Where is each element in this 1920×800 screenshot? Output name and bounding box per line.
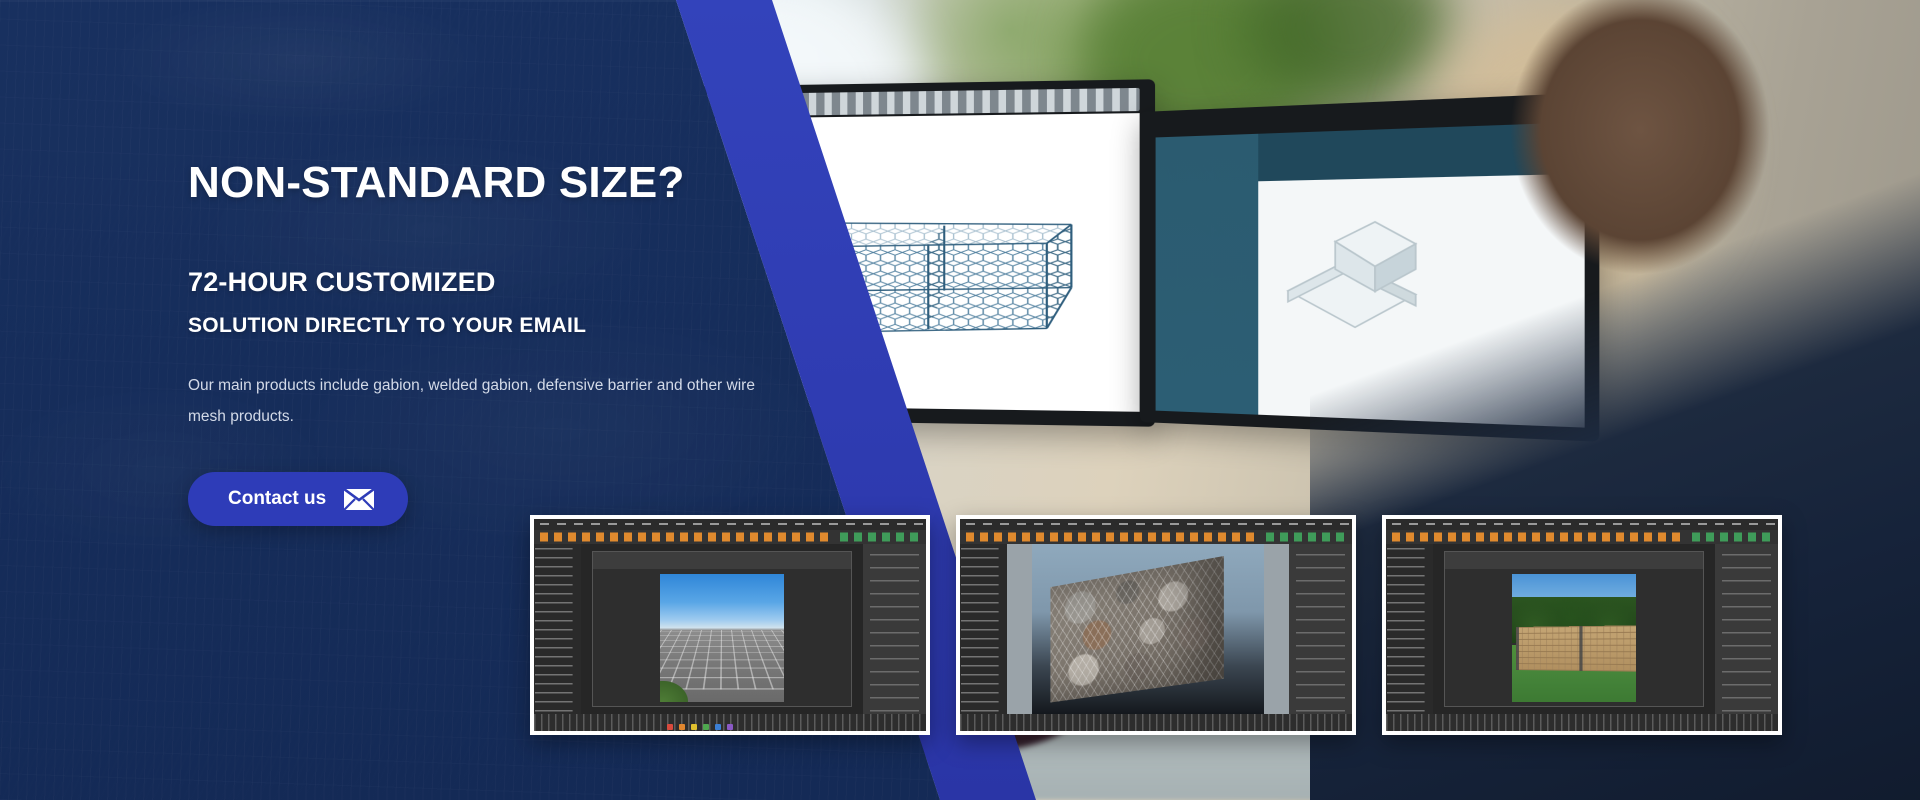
envelope-icon xyxy=(344,489,374,510)
subheading-secondary: SOLUTION DIRECTLY TO YOUR EMAIL xyxy=(188,313,788,338)
app-menu-bar xyxy=(534,519,926,530)
grass-patch xyxy=(660,681,687,701)
toolbar-icons-secondary xyxy=(840,533,918,542)
render-window-titlebar xyxy=(593,552,851,569)
outliner-panel xyxy=(534,544,581,714)
timeline-bar[interactable] xyxy=(1386,714,1778,731)
contact-us-label: Contact us xyxy=(228,488,326,510)
contact-us-button[interactable]: Contact us xyxy=(188,472,408,526)
viewport xyxy=(1007,544,1289,714)
toolbar-icons xyxy=(1392,533,1682,542)
toolbar-icons-secondary xyxy=(1266,533,1344,542)
dot-purple xyxy=(727,724,733,730)
dot-red xyxy=(667,724,673,730)
app-toolbar xyxy=(534,530,926,545)
dot-orange xyxy=(679,724,685,730)
attribute-panel xyxy=(1715,544,1778,714)
gabion-fence-model xyxy=(1516,626,1636,673)
timeline-bar[interactable] xyxy=(960,714,1352,731)
dot-blue xyxy=(715,724,721,730)
toolbar-icons-secondary xyxy=(1692,533,1770,542)
viewport xyxy=(1433,544,1715,714)
thumbnail-modeling-render[interactable]: welded wire mesh field under blue sky xyxy=(530,515,930,735)
attribute-panel xyxy=(1289,544,1352,714)
toolbar-icons xyxy=(540,533,830,542)
thumbnail-gabion-fence-render[interactable]: gabion fence wall with hedge and lawn xyxy=(1382,515,1782,735)
app-toolbar xyxy=(1386,530,1778,545)
viewport-side-bar-left xyxy=(1007,544,1032,714)
outliner-panel xyxy=(1386,544,1433,714)
status-color-dots xyxy=(667,724,733,730)
rendered-image xyxy=(1512,574,1636,702)
subheading-primary: 72-HOUR CUSTOMIZED xyxy=(188,267,788,297)
page-title: NON-STANDARD SIZE? xyxy=(188,160,788,207)
rendered-image xyxy=(660,574,784,702)
attribute-panel xyxy=(863,544,926,714)
intro-paragraph: Our main products include gabion, welded… xyxy=(188,370,763,432)
toolbar-icons xyxy=(966,533,1256,542)
dot-green xyxy=(703,724,709,730)
dot-yellow xyxy=(691,724,697,730)
render-window xyxy=(1444,551,1704,707)
viewport-side-bar-right xyxy=(1264,544,1289,714)
outliner-panel xyxy=(960,544,1007,714)
hero-content: NON-STANDARD SIZE? 72-HOUR CUSTOMIZED SO… xyxy=(188,160,788,526)
app-toolbar xyxy=(960,530,1352,545)
render-window xyxy=(592,551,852,707)
render-window-titlebar xyxy=(1445,552,1703,569)
thumbnail-gabion-model[interactable]: stone-filled gabion basket 3D model xyxy=(956,515,1356,735)
app-menu-bar xyxy=(1386,519,1778,530)
hero-banner: NON-STANDARD SIZE? 72-HOUR CUSTOMIZED SO… xyxy=(0,0,1920,800)
app-menu-bar xyxy=(960,519,1352,530)
software-screenshot-strip: welded wire mesh field under blue sky st… xyxy=(530,515,1782,735)
viewport xyxy=(581,544,863,714)
